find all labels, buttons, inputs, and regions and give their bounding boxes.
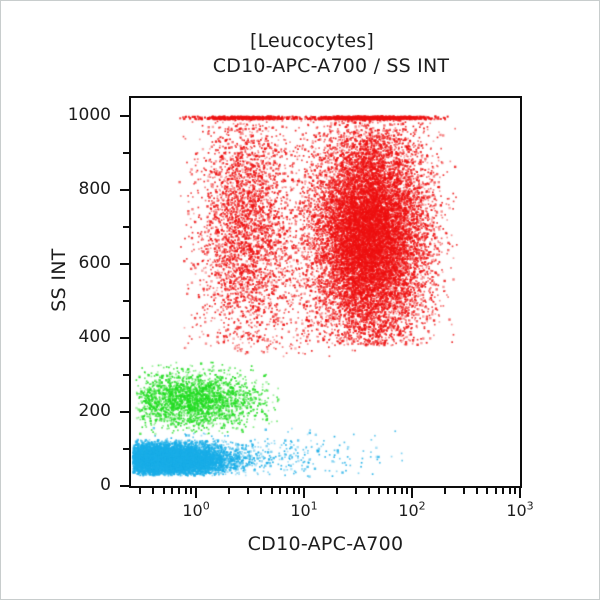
y-axis-tick-label: 1000 — [31, 105, 111, 125]
x-axis-tick-minor — [298, 488, 300, 494]
x-axis-tick-minor — [378, 488, 380, 494]
flow-cytometry-plot-page: [Leucocytes] CD10-APC-A700 / SS INT SS I… — [0, 0, 600, 600]
y-axis-tick-minor — [123, 152, 129, 154]
x-axis-tick-major — [411, 488, 413, 498]
x-axis-tick-major — [195, 488, 197, 498]
x-axis-tick-minor — [178, 488, 180, 494]
x-axis-tick-minor — [190, 488, 192, 494]
x-axis-tick-minor — [394, 488, 396, 494]
x-axis-tick-minor — [271, 488, 273, 494]
x-axis-tick-minor — [401, 488, 403, 494]
x-axis-tick-minor — [336, 488, 338, 494]
y-axis-tick-minor — [123, 300, 129, 302]
y-axis-tick-major — [120, 485, 129, 487]
page-title: [Leucocytes] — [23, 29, 600, 54]
y-axis-tick-minor — [123, 374, 129, 376]
x-axis-tick-minor — [502, 488, 504, 494]
x-axis-tick-minor — [509, 488, 511, 494]
y-axis-tick-major — [120, 189, 129, 191]
x-axis-tick-minor — [514, 488, 516, 494]
x-axis-tick-minor — [139, 488, 141, 494]
x-axis-tick-minor — [163, 488, 165, 494]
x-axis-tick-minor — [387, 488, 389, 494]
x-axis-tick-minor — [247, 488, 249, 494]
x-axis-tick-minor — [171, 488, 173, 494]
y-axis-tick-label: 400 — [31, 327, 111, 347]
plot-frame — [129, 96, 522, 488]
x-axis-tick-minor — [463, 488, 465, 494]
y-axis-tick-label: 200 — [31, 401, 111, 421]
x-axis-tick-minor — [444, 488, 446, 494]
x-axis-tick-major — [519, 488, 521, 498]
x-axis-tick-minor — [368, 488, 370, 494]
x-axis-tick-minor — [486, 488, 488, 494]
x-axis-tick-minor — [355, 488, 357, 494]
y-axis-tick-minor — [123, 226, 129, 228]
x-axis-tick-label: 101 — [274, 501, 334, 520]
x-axis-tick-label: 100 — [166, 501, 226, 520]
x-axis-tick-minor — [476, 488, 478, 494]
x-axis-tick-minor — [228, 488, 230, 494]
x-axis-tick-minor — [279, 488, 281, 494]
x-axis-tick-label: 102 — [382, 501, 442, 520]
x-axis-tick-minor — [406, 488, 408, 494]
plot-subtitle: CD10-APC-A700 / SS INT — [61, 54, 600, 79]
x-axis-tick-minor — [293, 488, 295, 494]
x-axis-tick-minor — [495, 488, 497, 494]
x-axis-tick-minor — [152, 488, 154, 494]
x-axis-tick-major — [303, 488, 305, 498]
plot-title-block: [Leucocytes] CD10-APC-A700 / SS INT — [1, 29, 600, 79]
x-axis-tick-minor — [185, 488, 187, 494]
x-axis-tick-minor — [286, 488, 288, 494]
y-axis-tick-label: 0 — [31, 475, 111, 495]
y-axis-tick-label: 600 — [31, 253, 111, 273]
y-axis-tick-major — [120, 263, 129, 265]
scatter-canvas — [131, 98, 520, 486]
y-axis-tick-major — [120, 115, 129, 117]
x-axis-label: CD10-APC-A700 — [129, 533, 522, 555]
y-axis-tick-major — [120, 411, 129, 413]
x-axis-tick-label: 103 — [490, 501, 550, 520]
y-axis-tick-major — [120, 337, 129, 339]
y-axis-tick-minor — [123, 448, 129, 450]
x-axis-tick-minor — [260, 488, 262, 494]
y-axis-tick-label: 800 — [31, 179, 111, 199]
